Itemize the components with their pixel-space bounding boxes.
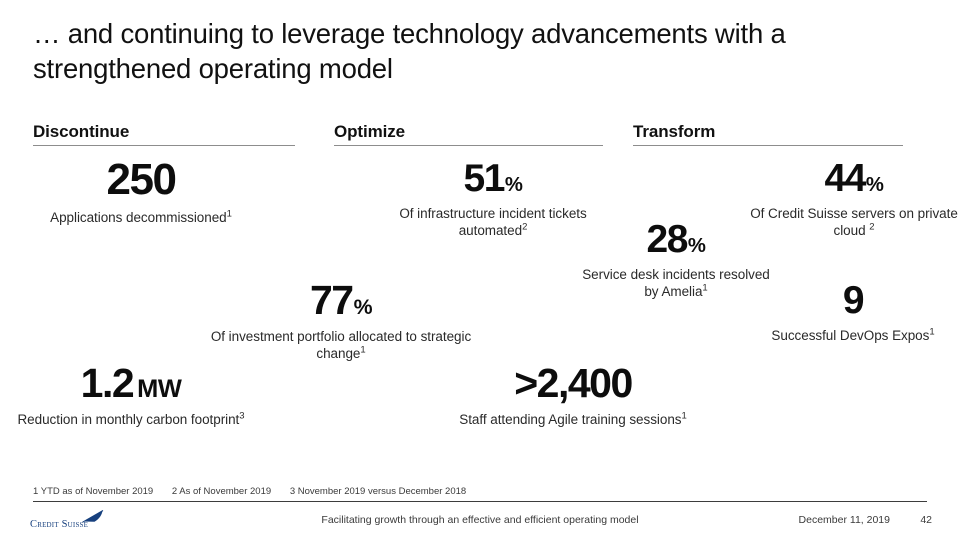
stat-unit: % — [866, 174, 884, 196]
stat-unit: % — [354, 295, 372, 319]
stat-value: >2,400 — [452, 363, 694, 404]
stat-infrastructure-tickets: 51% Of infrastructure incident tickets a… — [382, 159, 604, 240]
stat-caption-text: Reduction in monthly carbon footprint — [17, 412, 239, 427]
stat-caption: Service desk incidents resolved by Ameli… — [578, 266, 774, 301]
stat-number: 28 — [647, 218, 687, 261]
stat-caption-text: Of Credit Suisse servers on private clou… — [750, 206, 958, 238]
footnote-1: 1 YTD as of November 2019 — [33, 486, 153, 497]
stat-number: >2,400 — [514, 360, 632, 406]
stat-number: 77 — [310, 277, 353, 323]
stat-caption-text: Service desk incidents resolved by Ameli… — [582, 267, 770, 299]
stat-devops-expos: 9 Successful DevOps Expos1 — [763, 281, 943, 344]
stat-caption: Of infrastructure incident tickets autom… — [382, 205, 604, 240]
stat-caption-text: Successful DevOps Expos — [771, 328, 929, 343]
stat-caption: Applications decommissioned1 — [10, 209, 272, 226]
column-header-rule — [334, 145, 603, 146]
footer-date: December 11, 2019 — [799, 514, 890, 526]
footnote-3: 3 November 2019 versus December 2018 — [290, 486, 466, 497]
column-header-optimize: Optimize — [334, 122, 405, 146]
stat-caption: Of Credit Suisse servers on private clou… — [735, 205, 960, 240]
column-header-rule — [33, 145, 295, 146]
footnote-2: 2 As of November 2019 — [172, 486, 271, 497]
stat-value: 44% — [735, 159, 960, 198]
stat-caption: Of investment portfolio allocated to str… — [200, 328, 482, 363]
stat-unit: % — [505, 174, 523, 196]
stat-number: 9 — [843, 279, 863, 322]
column-header-transform: Transform — [633, 122, 715, 146]
stat-private-cloud-servers: 44% Of Credit Suisse servers on private … — [735, 159, 960, 240]
stat-unit: % — [688, 235, 706, 257]
footnotes: 1 YTD as of November 2019 2 As of Novemb… — [33, 486, 482, 497]
stat-footnote-ref: 1 — [360, 345, 365, 356]
stat-footnote-ref: 1 — [929, 327, 934, 338]
stat-value: 1.2MW — [10, 363, 252, 404]
column-header-rule — [633, 145, 903, 146]
stat-caption-text: Staff attending Agile training sessions — [459, 412, 681, 427]
footer-page-number: 42 — [920, 514, 932, 526]
stat-value: 9 — [763, 281, 943, 320]
stat-value: 250 — [10, 158, 272, 202]
stat-value: 77% — [200, 280, 482, 321]
stat-footnote-ref: 2 — [522, 222, 527, 233]
column-header-label: Discontinue — [33, 122, 129, 141]
stat-caption-text: Of investment portfolio allocated to str… — [211, 329, 471, 361]
stat-footnote-ref: 3 — [239, 411, 244, 422]
stat-number: 51 — [464, 157, 504, 200]
stat-investment-portfolio: 77% Of investment portfolio allocated to… — [200, 280, 482, 363]
stat-caption: Staff attending Agile training sessions1 — [452, 411, 694, 428]
stat-agile-training: >2,400 Staff attending Agile training se… — [452, 363, 694, 428]
stat-footnote-ref: 1 — [681, 411, 686, 422]
footer-divider — [33, 501, 927, 502]
stat-caption-text: Of infrastructure incident tickets autom… — [399, 206, 586, 238]
stat-caption: Reduction in monthly carbon footprint3 — [10, 411, 252, 428]
stat-number: 44 — [825, 157, 865, 200]
stat-unit: MW — [137, 375, 181, 403]
stat-footnote-ref: 1 — [227, 209, 232, 220]
stat-applications-decommissioned: 250 Applications decommissioned1 — [10, 158, 272, 226]
column-header-label: Transform — [633, 122, 715, 141]
stat-caption-text: Applications decommissioned — [50, 210, 227, 225]
stat-value: 51% — [382, 159, 604, 198]
stat-number: 1.2 — [81, 360, 134, 406]
stat-footnote-ref: 2 — [869, 222, 874, 233]
stat-carbon-footprint: 1.2MW Reduction in monthly carbon footpr… — [10, 363, 252, 428]
column-header-discontinue: Discontinue — [33, 122, 129, 146]
column-header-label: Optimize — [334, 122, 405, 141]
slide-title: … and continuing to leverage technology … — [33, 16, 923, 86]
slide-footer: Credit Suisse Facilitating growth throug… — [0, 508, 960, 532]
stat-caption: Successful DevOps Expos1 — [763, 327, 943, 344]
stat-footnote-ref: 1 — [702, 283, 707, 294]
stat-number: 250 — [107, 155, 176, 204]
